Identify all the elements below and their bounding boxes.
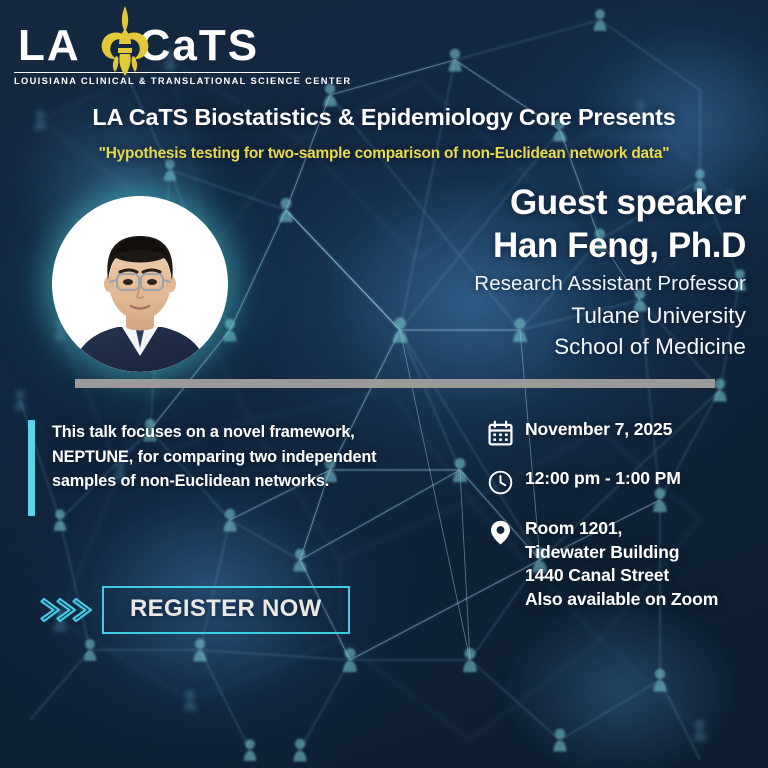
event-location-row: Room 1201, Tidewater Building 1440 Canal…: [483, 517, 768, 611]
clock-icon: [483, 467, 517, 496]
register-now-button[interactable]: REGISTER NOW: [102, 586, 350, 634]
abstract-text: This talk focuses on a novel framework, …: [52, 420, 376, 516]
presents-heading: LA CaTS Biostatistics & Epidemiology Cor…: [0, 104, 768, 131]
talk-title: "Hypothesis testing for two-sample compa…: [0, 145, 768, 163]
logo-wordmark: LA CaTS: [14, 22, 304, 68]
guest-speaker-label: Guest speaker: [356, 182, 746, 224]
map-pin-icon: [483, 517, 517, 546]
abstract-block: This talk focuses on a novel framework, …: [28, 420, 458, 516]
event-details: November 7, 2025 12:00 pm - 1:00 PM Room…: [483, 418, 768, 631]
abstract-line-1: This talk focuses on a novel framework,: [52, 420, 376, 445]
event-date: November 7, 2025: [525, 418, 672, 441]
speaker-org-line2: School of Medicine: [356, 331, 746, 362]
location-line-4: Also available on Zoom: [525, 588, 718, 612]
calendar-icon: [483, 418, 517, 447]
abstract-accent-bar: [28, 420, 35, 516]
speaker-org-line1: Tulane University: [356, 300, 746, 331]
event-poster: LA CaTS LOUISIANA CLINICAL & TRANSLATION…: [0, 0, 768, 768]
logo-subtitle: LOUISIANA CLINICAL & TRANSLATIONAL SCIEN…: [14, 72, 300, 86]
speaker-role: Research Assistant Professor: [356, 268, 746, 300]
event-location: Room 1201, Tidewater Building 1440 Canal…: [525, 517, 718, 611]
speaker-info: Guest speaker Han Feng, Ph.D Research As…: [356, 182, 746, 362]
register-cta[interactable]: REGISTER NOW: [40, 586, 350, 634]
event-date-row: November 7, 2025: [483, 418, 768, 447]
speaker-portrait-illustration: [52, 196, 228, 372]
section-divider: [75, 379, 715, 388]
abstract-line-3: samples of non-Euclidean networks.: [52, 469, 376, 494]
fleur-de-lis-icon: [94, 4, 156, 78]
logo-text-cats: CaTS: [139, 24, 259, 68]
location-line-3: 1440 Canal Street: [525, 564, 718, 588]
speaker-name: Han Feng, Ph.D: [356, 224, 746, 268]
event-time: 12:00 pm - 1:00 PM: [525, 467, 681, 490]
la-cats-logo: LA CaTS LOUISIANA CLINICAL & TRANSLATION…: [14, 22, 304, 88]
abstract-line-2: NEPTUNE, for comparing two independent: [52, 445, 376, 470]
logo-text-la: LA: [18, 24, 81, 68]
location-line-1: Room 1201,: [525, 517, 718, 541]
location-line-2: Tidewater Building: [525, 541, 718, 565]
triple-chevron-right-icon: [40, 590, 92, 630]
speaker-photo: [52, 196, 228, 372]
event-time-row: 12:00 pm - 1:00 PM: [483, 467, 768, 496]
